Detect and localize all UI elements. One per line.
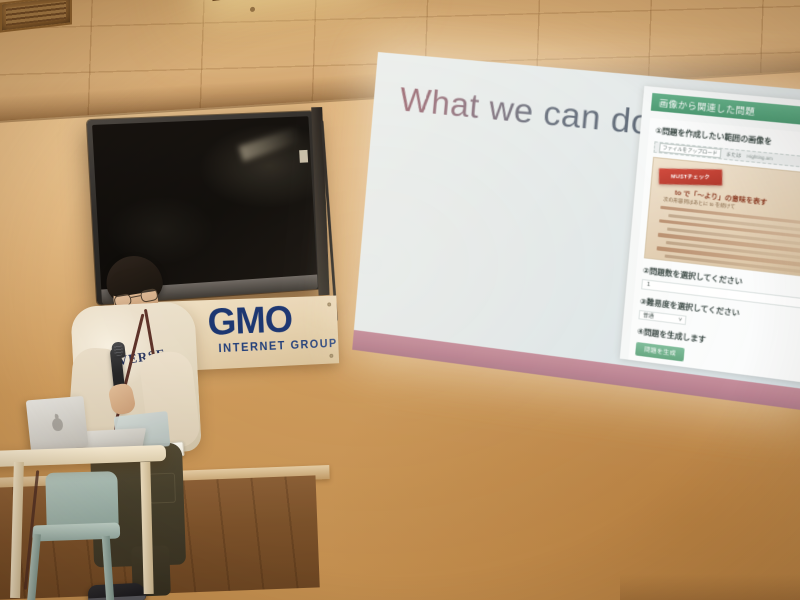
uploaded-textbook-image: MUSTチェック to で「～より」の意味を表す 次の形容詞はあとに to を続… [644,157,800,283]
tv-sticker [299,150,308,163]
uploader-hint: Highting.am [747,153,773,161]
chair-leg [102,536,115,600]
difficulty-select[interactable]: 普通 ˅ [638,310,686,325]
embedded-app-screenshot: 画像から関連した問題 ①問題を作成したい範囲の画像を ファイルをアップロード ま… [620,86,800,389]
question-count-value: 1 [647,282,651,289]
presentation-slide: What we can do 画像から関連した問題 ①問題を作成したい範囲の画像… [352,52,800,410]
presentation-photo-scene: GMO INTERNET GROUP What we can do 画像から関連… [0,0,800,600]
app-header-title: 画像から関連した問題 [659,96,756,117]
floor-shadow [620,574,800,600]
sign-screw-icon [329,354,333,358]
must-check-ribbon: MUSTチェック [659,168,722,185]
sign-brand-name: GMO [207,301,293,342]
textbook-body-lines [656,206,800,276]
upload-button[interactable]: ファイルをアップロード [659,143,721,158]
slide-title: What we can do [398,80,653,143]
apple-logo-icon [51,417,64,432]
chevron-down-icon: ˅ [678,316,682,323]
projection-screen: What we can do 画像から関連した問題 ①問題を作成したい範囲の画像… [352,52,800,410]
difficulty-value: 普通 [643,312,654,321]
generate-questions-button[interactable]: 問題を生成 [635,341,685,361]
app-body: ①問題を作成したい範囲の画像を ファイルをアップロード または Highting… [628,118,800,389]
microphone-head-icon [111,341,126,358]
macbook-lid [26,396,89,454]
cargo-pocket [149,473,176,504]
sign-screw-icon [327,302,331,306]
glasses-bridge [131,295,141,298]
uploader-or-label: または [726,151,742,159]
chair-backrest [45,471,118,529]
ribbon-label: MUSTチェック [659,168,722,185]
